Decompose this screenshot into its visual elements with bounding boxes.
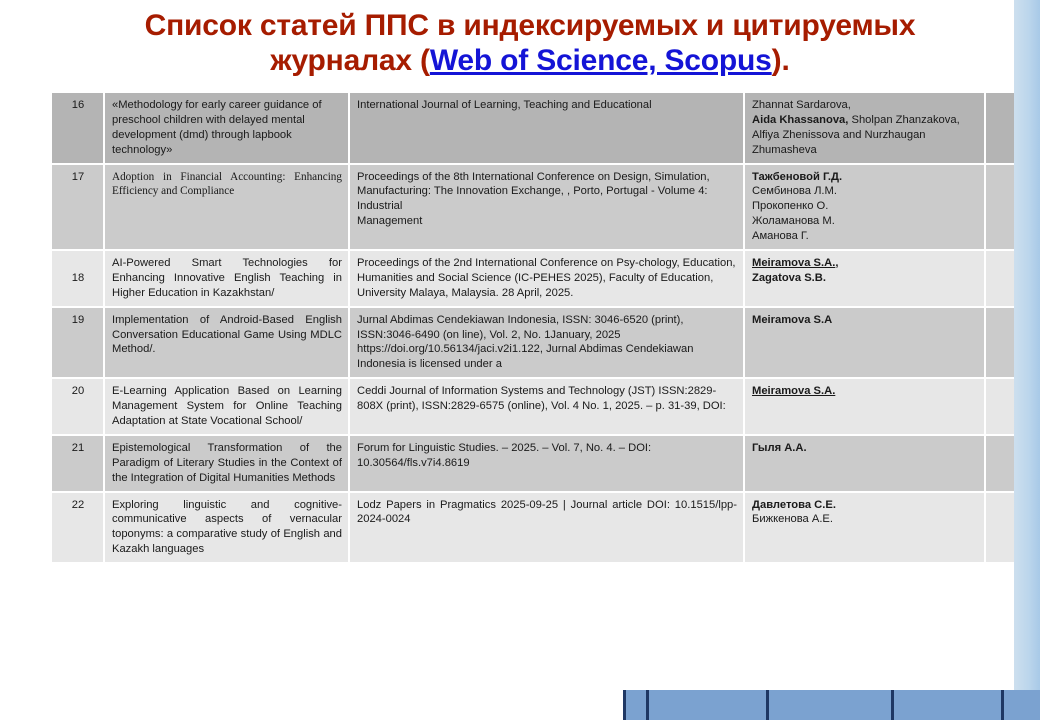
row-number: 17 [52,165,105,251]
extra-column [986,379,1014,436]
article-title: E-Learning Application Based on Learning… [105,379,350,436]
journal-info: Ceddi Journal of Information Systems and… [350,379,745,436]
title-line-2-suffix: ). [772,44,790,77]
journal-info: International Journal of Learning, Teach… [350,93,745,165]
bottom-bar-segment [769,690,894,720]
authors: Тажбеновой Г.Д.Сембинова Л.М. Прокопенко… [745,165,986,251]
page-title: Список статей ППС в индексируемых и цити… [60,8,1000,79]
articles-table: 16 «Methodology for early career guidanc… [52,93,1014,562]
extra-column [986,493,1014,563]
author-highlighted: Давлетова С.Е. [752,499,836,511]
article-title: Implementation of Android-Based English … [105,308,350,380]
author-plain: Zhannat Sardarova, [752,99,851,111]
author-highlighted: Meiramova S.A. [752,385,835,397]
title-line-1: Список статей ППС в индексируемых и цити… [60,8,1000,43]
extra-column [986,93,1014,165]
row-number: 19 [52,308,105,380]
article-title: Adoption in Financial Accounting: Enhanc… [105,165,350,251]
table-row[interactable]: 20 E-Learning Application Based on Learn… [52,379,1014,436]
extra-column [986,251,1014,308]
bottom-bar-segment [894,690,1004,720]
journal-info: Proceedings of the 8th International Con… [350,165,745,251]
title-line-2-prefix: журналах ( [270,44,429,77]
author-separator: , [835,257,838,269]
table-row[interactable]: 19 Implementation of Android-Based Engli… [52,308,1014,380]
extra-column [986,308,1014,380]
web-of-science-scopus-link[interactable]: Web of Science, Scopus [430,44,772,77]
article-title: Exploring linguistic and cognitive-commu… [105,493,350,563]
authors: Meiramova S.A. [745,379,986,436]
bottom-bar-segment [623,690,649,720]
author-highlighted: Тажбеновой Г.Д. [752,171,842,183]
author-highlighted: Meiramova S.A. [752,257,835,269]
slide-canvas: Список статей ППС в индексируемых и цити… [0,0,1040,720]
table-row[interactable]: 22 Exploring linguistic and cognitive-co… [52,493,1014,563]
authors: Meiramova S.A.,Zagatova S.B. [745,251,986,308]
decorative-right-strip [1014,0,1040,700]
authors: Meiramova S.A [745,308,986,380]
journal-info: Lodz Papers in Pragmatics 2025-09-25 | J… [350,493,745,563]
authors: Гыля А.А. [745,436,986,493]
author-rest: Сембинова Л.М. Прокопенко О. Жоламанова … [752,185,837,242]
authors: Zhannat Sardarova,Aida Khassanova, Sholp… [745,93,986,165]
author-highlighted: Meiramova S.A [752,314,832,326]
journal-info: Forum for Linguistic Studies. – 2025. – … [350,436,745,493]
table-row[interactable]: 18 AI-Powered Smart Technologies for Enh… [52,251,1014,308]
article-title: AI-Powered Smart Technologies for Enhanc… [105,251,350,308]
row-number: 18 [52,251,105,308]
journal-info: Proceedings of the 2nd International Con… [350,251,745,308]
journal-info: Jurnal Abdimas Cendekiawan Indonesia, IS… [350,308,745,380]
author-highlighted: Aida Khassanova, [752,114,848,126]
authors: Давлетова С.Е.Бижкенова А.Е. [745,493,986,563]
author-rest: Бижкенова А.Е. [752,513,833,525]
bottom-bar-segment [1004,690,1037,720]
table-row[interactable]: 21 Epistemological Transformation of the… [52,436,1014,493]
articles-table-wrapper: 16 «Methodology for early career guidanc… [52,93,1014,562]
decorative-bottom-bar [623,690,1040,720]
row-number: 20 [52,379,105,436]
article-title: «Methodology for early career guidance o… [105,93,350,165]
row-number: 16 [52,93,105,165]
table-row[interactable]: 16 «Methodology for early career guidanc… [52,93,1014,165]
title-line-2: журналах (Web of Science, Scopus). [60,43,1000,78]
author-rest: Zagatova S.B. [752,272,826,284]
author-highlighted: Гыля А.А. [752,442,807,454]
row-number: 22 [52,493,105,563]
extra-column [986,436,1014,493]
bottom-bar-segment [649,690,769,720]
table-row[interactable]: 17 Adoption in Financial Accounting: Enh… [52,165,1014,251]
article-title: Epistemological Transformation of the Pa… [105,436,350,493]
row-number: 21 [52,436,105,493]
extra-column [986,165,1014,251]
